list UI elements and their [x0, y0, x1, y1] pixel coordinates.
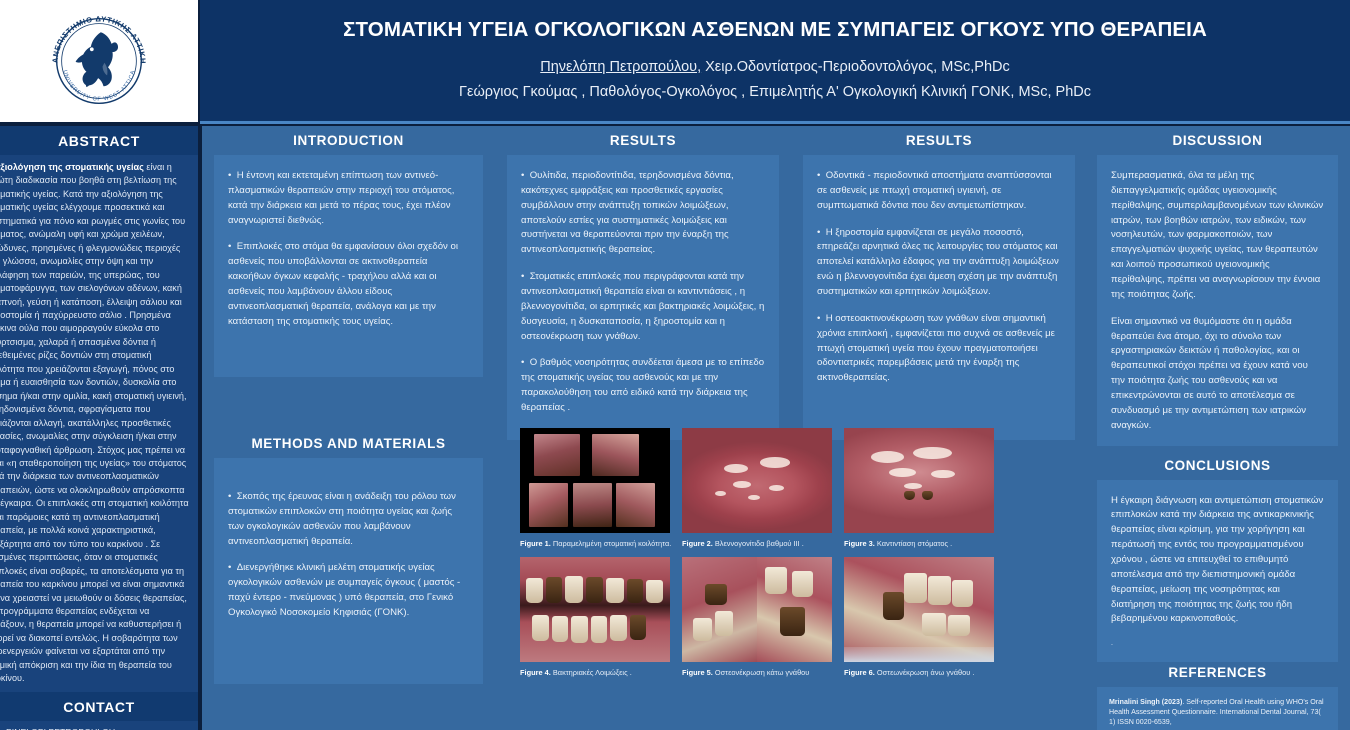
university-logo: ΠΑΝΕΠΙΣΤΗΜΙΟ ΔΥΤΙΚΗΣ ΑΤΤΙΚΗΣ UNIVERSITY …	[0, 0, 200, 124]
sidebar: ABSTRACT Η αξιολόγηση της στοματικής υγε…	[0, 124, 200, 730]
collage-tile	[616, 483, 655, 527]
figure-5-label: Figure 5.	[682, 668, 713, 677]
introduction-panel: Η έντονη και εκτεταμένη επίπτωση των αντ…	[214, 155, 483, 377]
results-2-panel: Οδοντικά - περιοδοντικά αποστήματα αναπτ…	[803, 155, 1075, 440]
reference-item: Mrinalini Singh (2023). Self-reported Or…	[1109, 697, 1326, 727]
contact-name: PINELOPI PETROPOULOU	[6, 726, 192, 730]
figure-2-image	[682, 428, 832, 533]
figure-5-caption: Figure 5. Οστεονέκρωση κάτω γνάθου	[682, 668, 832, 678]
conclusions-trailing-dot: .	[1111, 639, 1324, 650]
discussion-paragraph-1: Συμπερασματικά, όλα τα μέλη της διεπαγγε…	[1111, 169, 1324, 303]
discussion-panel: Συμπερασματικά, όλα τα μέλη της διεπαγγε…	[1097, 155, 1338, 446]
results-1-panel: Ουλίτιδα, περιοδοντίτιδα, τερηδονισμένα …	[507, 155, 779, 440]
results-1-paragraph-3: Ο βαθμός νοσηρότητας συνδέεται άμεσα με …	[521, 356, 765, 415]
uniwa-crest-icon: ΠΑΝΕΠΙΣΤΗΜΙΟ ΔΥΤΙΚΗΣ ΑΤΤΙΚΗΣ UNIVERSITY …	[45, 7, 153, 115]
author-secondary: Γεώργιος Γκούμας , Παθολόγος-Ογκολόγος ,…	[200, 84, 1350, 100]
figure-4: Figure 4. Βακτηριακές Λοιμώξεις .	[520, 557, 670, 678]
collage-tile	[529, 483, 568, 527]
abstract-heading: ABSTRACT	[0, 126, 198, 155]
figure-row-bottom: Figure 4. Βακτηριακές Λοιμώξεις .	[520, 557, 1090, 678]
conclusions-heading: CONCLUSIONS	[1087, 446, 1348, 480]
figure-5-image	[682, 557, 832, 662]
conclusions-panel: Η έγκαιρη διάγνωση και αντιμετώπιση στομ…	[1097, 480, 1338, 663]
discussion-paragraph-2: Είναι σημαντικό να θυμόμαστε ότι η ομάδα…	[1111, 315, 1324, 434]
contact-heading-label: CONTACT	[63, 699, 135, 715]
figure-2-label: Figure 2.	[682, 539, 713, 548]
results-1-heading: RESULTS	[495, 126, 791, 155]
figure-4-image	[520, 557, 670, 662]
methods-paragraph-1: Σκοπός της έρευνας είναι η ανάδειξη του …	[228, 490, 469, 549]
uniwa-crest-svg: ΠΑΝΕΠΙΣΤΗΜΙΟ ΔΥΤΙΚΗΣ ΑΤΤΙΚΗΣ UNIVERSITY …	[45, 7, 153, 115]
introduction-heading: INTRODUCTION	[202, 126, 495, 155]
figure-3-label: Figure 3.	[844, 539, 875, 548]
poster-root: ΠΑΝΕΠΙΣΤΗΜΙΟ ΔΥΤΙΚΗΣ ΑΤΤΙΚΗΣ UNIVERSITY …	[0, 0, 1350, 730]
figure-5: Figure 5. Οστεονέκρωση κάτω γνάθου	[682, 557, 832, 678]
figure-grid: Figure 1. Παραμελημένη στοματική κοιλότη…	[520, 428, 1090, 718]
methods-paragraph-2: Διενεργήθηκε κλινική μελέτη στοματικής υ…	[228, 561, 469, 620]
results-1-paragraph-2: Στοματικές επιπλοκές που περιγράφονται κ…	[521, 270, 765, 344]
figure-4-text: Βακτηριακές Λοιμώξεις .	[551, 668, 632, 677]
figure-6-caption: Figure 6. Οστεωνέκρωση άνω γνάθου .	[844, 668, 994, 678]
results-2-heading: RESULTS	[791, 126, 1087, 155]
author-primary-credentials: Χειρ.Οδοντίατρος-Περιοδοντολόγος, MSc,Ph…	[701, 59, 1010, 75]
figure-1: Figure 1. Παραμελημένη στοματική κοιλότη…	[520, 428, 670, 549]
author-primary: Πηνελόπη Πετροπούλου, Χειρ.Οδοντίατρος-Π…	[200, 59, 1350, 75]
discussion-heading: DISCUSSION	[1087, 126, 1348, 155]
collage-tile	[573, 483, 612, 527]
figure-4-caption: Figure 4. Βακτηριακές Λοιμώξεις .	[520, 668, 670, 678]
figure-1-label: Figure 1.	[520, 539, 551, 548]
abstract-heading-label: ABSTRACT	[58, 133, 140, 149]
results-2-paragraph-1: Οδοντικά - περιοδοντικά αποστήματα αναπτ…	[817, 169, 1061, 214]
figure-3-image	[844, 428, 994, 533]
figure-row-top: Figure 1. Παραμελημένη στοματική κοιλότη…	[520, 428, 1090, 549]
abstract-body: Η αξιολόγηση της στοματικής υγείας είναι…	[0, 161, 192, 686]
abstract-rest: είναι η πρώτη διαδικασία που βοηθά στη β…	[0, 162, 189, 683]
abstract-lead: Η αξιολόγηση της στοματικής υγείας	[0, 162, 144, 172]
figure-1-image	[520, 428, 670, 533]
reference-author: Mrinalini Singh (2023)	[1109, 698, 1182, 706]
figure-3-caption: Figure 3. Καντιντίαση στόματος .	[844, 539, 994, 549]
results-1-paragraph-1: Ουλίτιδα, περιοδοντίτιδα, τερηδονισμένα …	[521, 169, 765, 258]
figure-1-text: Παραμελημένη στοματική κοιλότητα.	[551, 539, 671, 548]
references-heading: REFERENCES	[1087, 662, 1348, 687]
figure-6-image	[844, 557, 994, 662]
figure-6-label: Figure 6.	[844, 668, 875, 677]
conclusions-paragraph-1: Η έγκαιρη διάγνωση και αντιμετώπιση στομ…	[1111, 494, 1324, 628]
figure-5-right	[757, 557, 832, 662]
figure-6: Figure 6. Οστεωνέκρωση άνω γνάθου .	[844, 557, 994, 678]
collage-tile	[592, 434, 639, 476]
figure-4-label: Figure 4.	[520, 668, 551, 677]
figure-1-caption: Figure 1. Παραμελημένη στοματική κοιλότη…	[520, 539, 670, 549]
figure-5-text: Οστεονέκρωση κάτω γνάθου	[713, 668, 810, 677]
figure-2-text: Βλεννογονίτιδα βαθμού ΙΙΙ .	[713, 539, 804, 548]
figure-6-text: Οστεωνέκρωση άνω γνάθου .	[875, 668, 975, 677]
figure-5-left	[682, 557, 757, 662]
methods-heading: METHODS AND MATERIALS	[202, 429, 495, 458]
column-discussion: DISCUSSION Συμπερασματικά, όλα τα μέλη τ…	[1087, 126, 1348, 730]
figure-3: Figure 3. Καντιντίαση στόματος .	[844, 428, 994, 549]
figure-2-caption: Figure 2. Βλεννογονίτιδα βαθμού ΙΙΙ .	[682, 539, 832, 549]
author-primary-name: Πηνελόπη Πετροπούλου,	[540, 59, 701, 75]
introduction-paragraph-2: Επιπλοκές στο στόμα θα εμφανίσουν όλοι σ…	[228, 240, 469, 329]
figure-3-text: Καντιντίαση στόματος .	[875, 539, 952, 548]
column-introduction: INTRODUCTION Η έντονη και εκτεταμένη επί…	[202, 126, 495, 730]
methods-panel: Σκοπός της έρευνας είναι η ανάδειξη του …	[214, 458, 483, 684]
collage-tile	[534, 434, 581, 476]
contact-heading: CONTACT	[0, 692, 198, 721]
results-2-paragraph-3: Η οστεοακτινονέκρωση των γνάθων είναι ση…	[817, 312, 1061, 386]
page-title: ΣΤΟΜΑΤΙΚΗ ΥΓΕΙΑ ΟΓΚΟΛΟΓΙΚΩΝ ΑΣΘΕΝΩΝ ΜΕ Σ…	[200, 18, 1350, 42]
abstract-panel: Η αξιολόγηση της στοματικής υγείας είναι…	[0, 155, 198, 692]
title-block: ΣΤΟΜΑΤΙΚΗ ΥΓΕΙΑ ΟΓΚΟΛΟΓΙΚΩΝ ΑΣΘΕΝΩΝ ΜΕ Σ…	[200, 0, 1350, 124]
poster-header: ΠΑΝΕΠΙΣΤΗΜΙΟ ΔΥΤΙΚΗΣ ΑΤΤΙΚΗΣ UNIVERSITY …	[0, 0, 1350, 124]
figure-2: Figure 2. Βλεννογονίτιδα βαθμού ΙΙΙ .	[682, 428, 832, 549]
results-2-paragraph-2: Η ξηροστομία εμφανίζεται σε μεγάλο ποσοσ…	[817, 226, 1061, 300]
references-panel: Mrinalini Singh (2023). Self-reported Or…	[1097, 687, 1338, 730]
contact-panel: PINELOPI PETROPOULOU UNIVERSITY OF WEST …	[0, 721, 198, 730]
introduction-paragraph-1: Η έντονη και εκτεταμένη επίπτωση των αντ…	[228, 169, 469, 228]
